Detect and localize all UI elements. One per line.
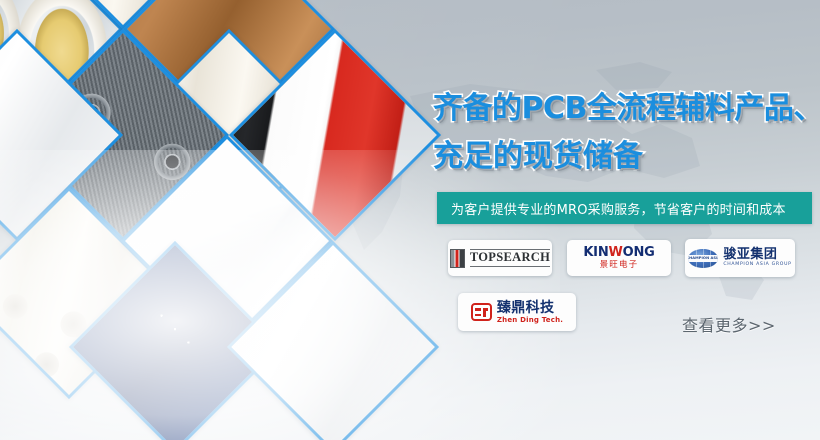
product-collage: JIE [0, 0, 430, 440]
client-logo-champion-asia[interactable]: CHAMPION ASIA 骏亚集团 CHAMPION ASIA GROUP [685, 239, 795, 277]
kinwong-name-en: KINWONG [583, 246, 654, 259]
subtitle-bar: 为客户提供专业的MRO采购服务，节省客户的时间和成本 [437, 192, 812, 224]
champion-asia-name-en: CHAMPION ASIA GROUP [723, 263, 791, 268]
client-logo-kinwong[interactable]: KINWONG 景旺电子 [567, 240, 671, 276]
client-logo-zhending[interactable]: 臻鼎科技 Zhen Ding Tech. [458, 293, 576, 331]
zhending-mark-icon [471, 303, 492, 321]
kinwong-name-part-w: W [609, 245, 623, 260]
champion-asia-name-cn: 骏亚集团 [723, 248, 791, 261]
kinwong-name-part-b: ONG [623, 245, 655, 260]
topsearch-mark-icon [450, 249, 465, 268]
client-logo-topsearch[interactable]: TOPSEARCH [448, 240, 552, 276]
zhending-name-en: Zhen Ding Tech. [497, 317, 563, 324]
view-more-link[interactable]: 查看更多>> [682, 312, 776, 336]
headline-line-1: 齐备的PCB全流程辅料产品、 [433, 94, 820, 124]
kinwong-name-part-a: KIN [583, 245, 608, 260]
zhending-name-cn: 臻鼎科技 [497, 301, 563, 315]
topsearch-name: TOPSEARCH [470, 249, 550, 266]
promo-banner: JIE 齐备的PCB全流程辅料产品、 充足的现货储备 为客户提供专业的MRO采购… [0, 0, 820, 440]
subtitle-text: 为客户提供专业的MRO采购服务，节省客户的时间和成本 [437, 199, 786, 218]
headline-line-2: 充足的现货储备 [433, 142, 643, 172]
banner-text-block: 齐备的PCB全流程辅料产品、 充足的现货储备 为客户提供专业的MRO采购服务，节… [430, 0, 820, 440]
champion-asia-globe-icon: CHAMPION ASIA [688, 249, 718, 268]
champion-asia-globe-text: CHAMPION ASIA [688, 256, 718, 260]
kinwong-name-cn: 景旺电子 [583, 261, 654, 270]
